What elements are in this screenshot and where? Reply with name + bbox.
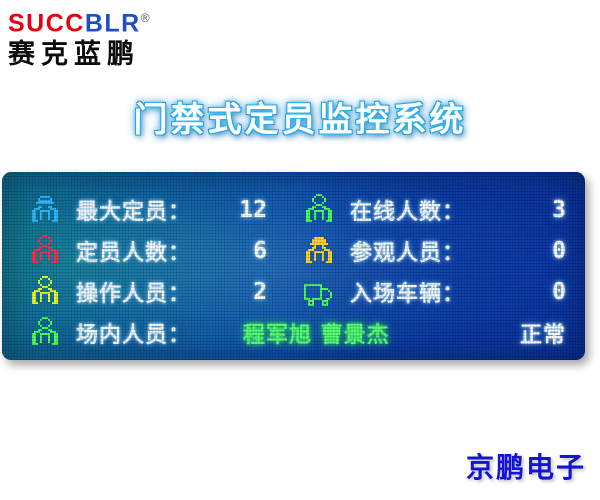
led-label-visitors: 参观人员： (350, 235, 465, 267)
led-value-max-capacity: 12 (239, 197, 293, 223)
brand-logo-latin-part1: SUCC (8, 9, 85, 37)
led-label-vehicles-entered: 入场车辆： (350, 276, 465, 308)
led-row-vehicles-entered: 入场车辆： 0 (302, 271, 574, 313)
led-row-designated-count: 定员人数： 6 (28, 230, 293, 272)
led-value-vehicles-entered: 0 (552, 279, 574, 305)
led-label-max-capacity: 最大定员： (76, 194, 191, 226)
led-value-visitors: 0 (552, 238, 574, 264)
led-value-online-count: 3 (552, 197, 574, 223)
led-label-online-count: 在线人数： (350, 194, 465, 226)
brand-logo: SUCCBLR® 赛克蓝鹏 (8, 4, 238, 74)
led-row-max-capacity: 最大定员： 12 (28, 189, 293, 231)
truck-icon (302, 276, 336, 308)
led-row-visitors: 参观人员： 0 (302, 230, 574, 272)
brand-logo-latin-part2: BLR (85, 9, 141, 37)
brand-logo-latin: SUCCBLR® (8, 4, 238, 37)
person-icon (28, 235, 62, 267)
led-row-online-count: 在线人数： 3 (302, 189, 574, 231)
led-label-operators: 操作人员： (76, 276, 191, 308)
led-label-onsite-personnel: 场内人员： (76, 317, 191, 349)
footer-brand: 京鹏电子 (466, 446, 586, 486)
registered-trademark-icon: ® (141, 11, 150, 25)
person-cap-icon (302, 235, 336, 267)
brand-logo-chinese: 赛克蓝鹏 (8, 38, 238, 72)
person-cap-icon (28, 194, 62, 226)
page-title: 门禁式定员监控系统 (0, 92, 600, 141)
led-display-panel: 最大定员： 12 (2, 172, 585, 360)
led-value-designated-count: 6 (253, 238, 293, 264)
led-readout-grid: 最大定员： 12 (2, 172, 585, 360)
person-icon (302, 194, 336, 226)
led-row-operators: 操作人员： 2 (28, 271, 293, 313)
led-value-onsite-personnel-names: 程军旭 曹景杰 (243, 317, 390, 349)
person-icon (28, 317, 62, 349)
status-badge: 正常 (520, 317, 574, 349)
led-row-onsite-personnel: 场内人员： 程军旭 曹景杰 正常 (28, 312, 574, 354)
person-icon (28, 276, 62, 308)
led-value-operators: 2 (253, 279, 293, 305)
led-label-designated-count: 定员人数： (76, 235, 191, 267)
